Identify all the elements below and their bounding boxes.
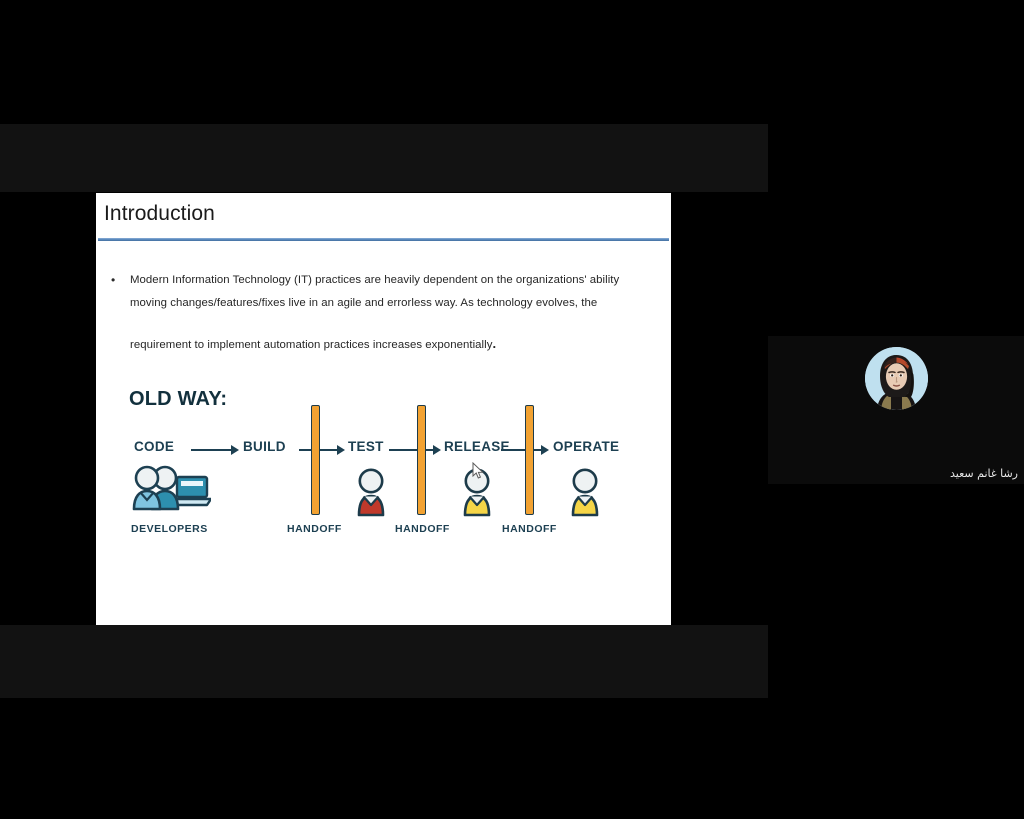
title-underline-rule: [98, 238, 669, 241]
person-icon-test: [354, 468, 388, 518]
shared-slide[interactable]: Introduction • Modern Information Techno…: [96, 193, 671, 625]
handoff-bar-icon: [417, 405, 426, 515]
avatar: [865, 347, 928, 410]
diagram-stage-release: RELEASE: [444, 439, 510, 454]
arrow-right-icon: [389, 445, 441, 455]
meeting-stage: Introduction • Modern Information Techno…: [0, 0, 1024, 819]
caption-handoff: HANDOFF: [287, 523, 342, 535]
arrow-right-icon: [299, 445, 345, 455]
old-way-diagram: OLD WAY: CODE BUILD TEST RELEASE OPERATE: [96, 383, 671, 558]
handoff-bar-icon: [525, 405, 534, 515]
diagram-stage-test: TEST: [348, 439, 384, 454]
caption-handoff: HANDOFF: [502, 523, 557, 535]
bullet-text: Modern Information Technology (IT) pract…: [130, 269, 660, 357]
bullet-marker: •: [108, 269, 130, 292]
caption-handoff: HANDOFF: [395, 523, 450, 535]
developers-icon: [129, 465, 211, 520]
bullet-line-3-period: .: [492, 336, 496, 351]
diagram-title: OLD WAY:: [129, 388, 227, 411]
participant-video-tile[interactable]: رشا غانم سعيد: [768, 336, 1024, 484]
bullet-line-2: moving changes/features/fixes live in an…: [130, 292, 660, 315]
caption-developers: DEVELOPERS: [131, 523, 208, 535]
diagram-stage-build: BUILD: [243, 439, 286, 454]
bullet-item: • Modern Information Technology (IT) pra…: [108, 269, 660, 357]
person-icon-release: [460, 468, 494, 518]
arrow-right-icon: [191, 445, 239, 455]
bullet-line-3: requirement to implement automation prac…: [130, 339, 492, 351]
slide-body: • Modern Information Technology (IT) pra…: [108, 269, 660, 357]
diagram-stage-operate: OPERATE: [553, 439, 619, 454]
bullet-line-3-wrap: requirement to implement automation prac…: [130, 332, 660, 357]
bullet-line-1: Modern Information Technology (IT) pract…: [130, 274, 619, 286]
slide-title: Introduction: [104, 202, 215, 226]
person-icon-operate: [568, 468, 602, 518]
handoff-bar-icon: [311, 405, 320, 515]
screen-share-letterbox-bottom: [0, 625, 768, 698]
diagram-stage-code: CODE: [134, 439, 174, 454]
screen-share-letterbox-top: [0, 124, 768, 192]
participant-name-label: رشا غانم سعيد: [950, 467, 1018, 480]
